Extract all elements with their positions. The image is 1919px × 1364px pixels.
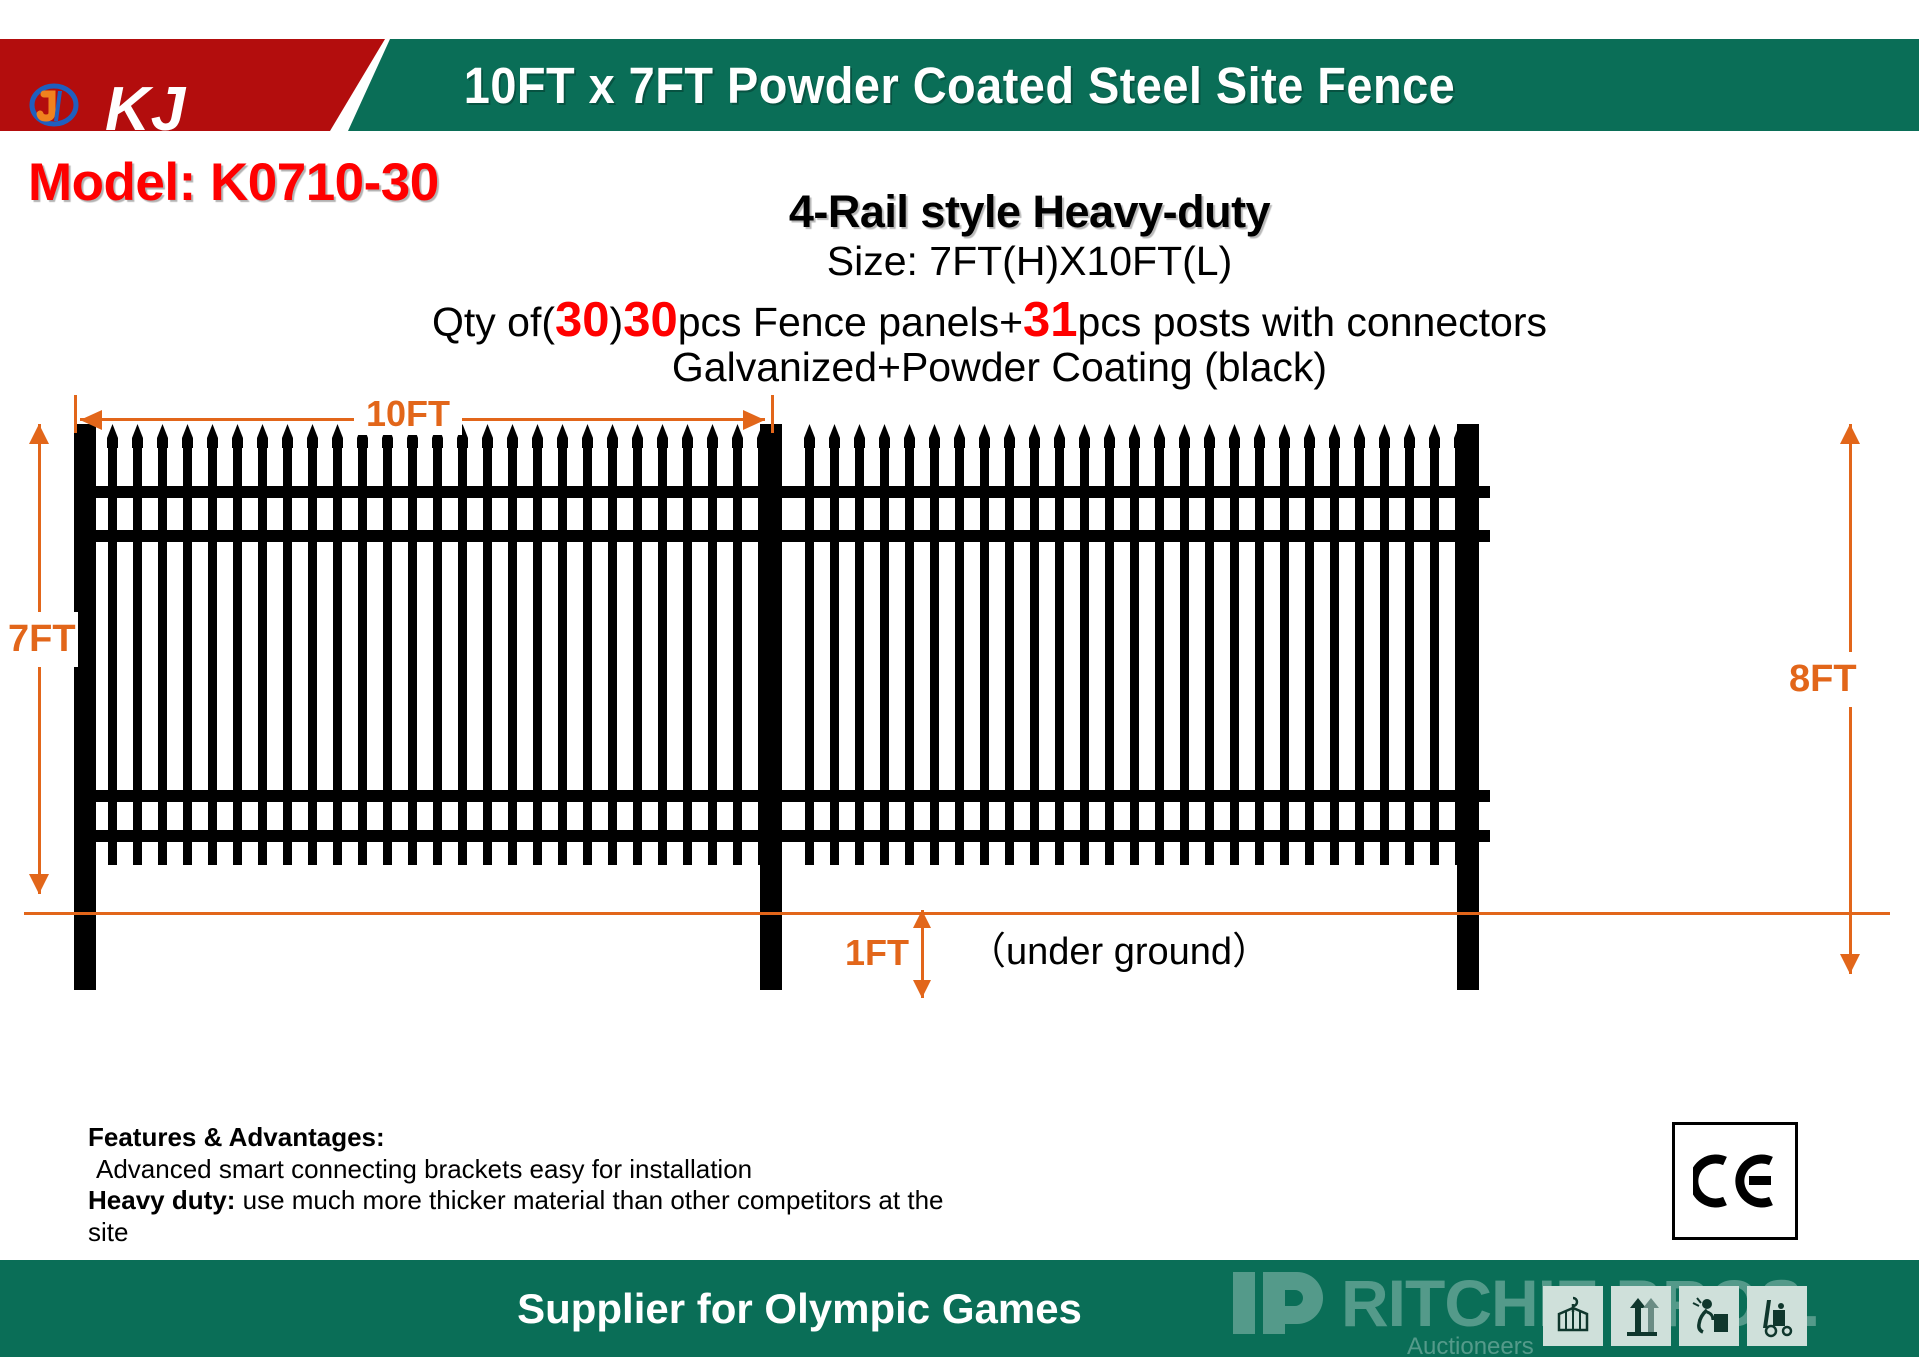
this-side-up-icon [1611,1286,1671,1346]
footer-banner: Supplier for Olympic Games RITCHIE BROS.… [0,1260,1919,1357]
features-line-1: Advanced smart connecting brackets easy … [88,1154,988,1186]
forklift-icon [1747,1286,1807,1346]
handle-with-care-icon [1679,1286,1739,1346]
ce-mark-icon [1693,1153,1777,1209]
svg-text:Auctioneers: Auctioneers [1407,1333,1534,1360]
underground-note: （under ground） [968,920,1270,975]
dimension-tick-right [771,395,774,433]
spec-coating-line: Galvanized+Powder Coating (black) [0,344,1919,391]
qty-panels-number: 30 [623,293,678,347]
dimension-height-8ft: 8FT [1835,424,1895,974]
header-banner: 10FT x 7FT Powder Coated Steel Site Fenc… [0,39,1919,131]
dimension-width-label: 10FT [354,393,462,435]
shipping-icons-group [1543,1286,1807,1346]
kj-oval-logo-icon [28,81,80,129]
dimension-arrow-down-icon [1840,954,1860,974]
dimension-arrow-down-icon [913,980,931,998]
dimension-height-right-label: 8FT [1787,652,1859,707]
qty-posts-text: pcs posts with connectors [1078,299,1547,345]
dimension-underground-label: 1FT [845,932,909,974]
features-line-2: Heavy duty: use much more thicker materi… [88,1185,988,1248]
dimension-width-10ft: 10FT [74,395,774,433]
qty-mid: ) [610,299,624,345]
spec-size-line: Size: 7FT(H)X10FT(L) [0,238,1919,285]
qty-posts-number: 31 [1023,293,1078,347]
dimension-height-7ft: 7FT [24,424,84,894]
brand-name: KJ [105,79,186,141]
qty-paren-number: 30 [555,293,610,347]
ce-mark-box [1672,1122,1798,1240]
dimension-underground-1ft: 1FT [845,910,975,1000]
crate-lift-icon [1543,1286,1603,1346]
dimension-arrow-down-icon [29,874,49,894]
features-title: Features & Advantages: [88,1122,988,1154]
qty-prefix: Qty of( [432,299,555,345]
dimension-height-left-label: 7FT [6,612,78,667]
qty-panels-text: pcs Fence panels+ [678,299,1023,345]
features-line-2-label: Heavy duty: [88,1185,235,1215]
spec-quantity-line: Qty of(30)30pcs Fence panels+31pcs posts… [0,292,1919,348]
dimension-arrow-up-icon [1840,424,1860,444]
features-block: Features & Advantages: Advanced smart co… [88,1122,988,1249]
dimension-arrow-up-icon [29,424,49,444]
dimension-arrow-up-icon [913,910,931,928]
dimension-arrow-right-icon [743,410,765,430]
spec-style-line: 4-Rail style Heavy-duty [0,186,1919,238]
